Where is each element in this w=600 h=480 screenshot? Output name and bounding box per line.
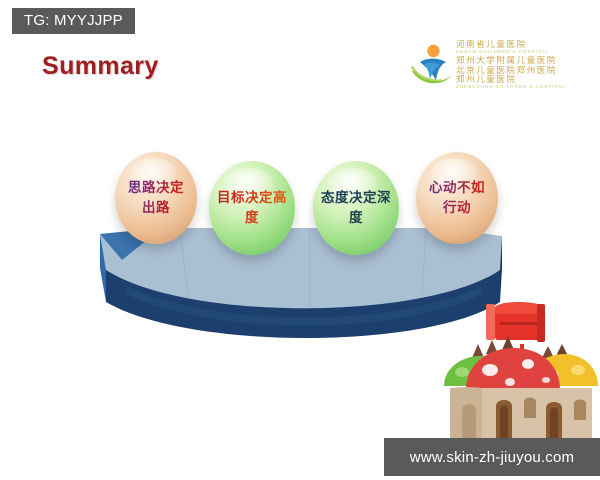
sphere-4-label: 心动不如行动 <box>423 178 492 219</box>
logo-cn-line-3: 北京儿童医院郑州医院 <box>456 66 566 75</box>
sphere-4[interactable]: 心动不如行动 <box>416 152 498 244</box>
hospital-logo-icon <box>408 40 454 90</box>
sphere-1-label: 思路决定出路 <box>122 178 191 219</box>
sphere-2[interactable]: 目标决定高度 <box>209 161 295 255</box>
site-url-watermark: www.skin-zh-jiuyou.com <box>384 438 600 476</box>
sphere-1[interactable]: 思路决定出路 <box>115 152 197 244</box>
logo-cn-line-2: 郑州大学附属儿童医院 <box>456 56 566 65</box>
hospital-logo: 河南省儿童医院 HENAN CHILDREN'S HOSPITAL 郑州大学附属… <box>408 36 560 94</box>
sphere-3-label: 态度决定深度 <box>320 188 392 229</box>
page-title: Summary <box>42 52 159 81</box>
logo-en-line-2: ZHENGZHOU CHILDREN'S HOSPITAL <box>456 85 566 89</box>
logo-cn-line-4: 郑州儿童医院 <box>456 75 566 84</box>
logo-cn-line-1: 河南省儿童医院 <box>456 40 566 49</box>
mailbox-icon <box>486 302 545 342</box>
hospital-logo-text: 河南省儿童医院 HENAN CHILDREN'S HOSPITAL 郑州大学附属… <box>456 40 566 90</box>
sphere-2-label: 目标决定高度 <box>216 188 288 229</box>
mushroom-house-illustration <box>442 292 598 440</box>
sphere-3[interactable]: 态度决定深度 <box>313 161 399 255</box>
logo-en-line-1: HENAN CHILDREN'S HOSPITAL <box>456 50 566 54</box>
telegram-tag-watermark: TG: MYYJJPP <box>12 8 135 34</box>
slide-canvas: TG: MYYJJPP Summary 河南省儿童医院 HENAN CHILDR… <box>0 0 600 480</box>
